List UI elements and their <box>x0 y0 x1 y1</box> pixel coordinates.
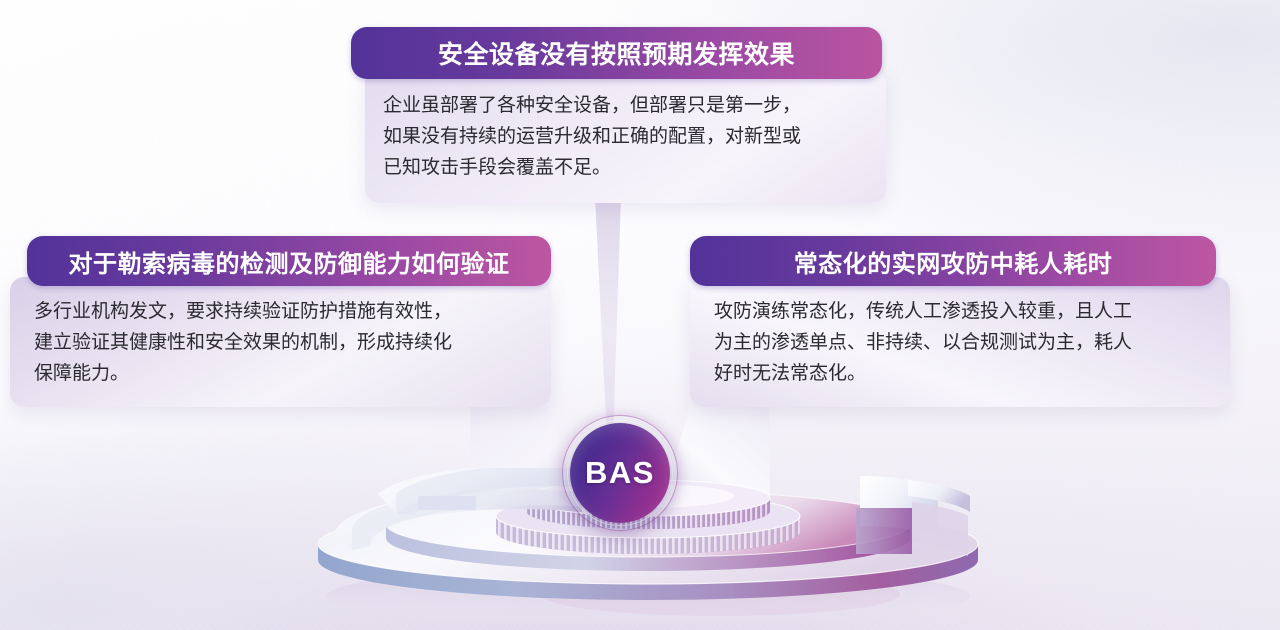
card-right: 常态化的实网攻防中耗人耗时 攻防演练常态化，传统人工渗透投入较重，且人工 为主的… <box>690 236 1230 407</box>
top-card-tail <box>591 196 631 446</box>
bas-label: BAS <box>585 455 655 491</box>
card-top-body-text: 企业虽部署了各种安全设备，但部署只是第一步， 如果没有持续的运营升级和正确的配置… <box>383 91 872 183</box>
card-right-body: 攻防演练常态化，传统人工渗透投入较重，且人工 为主的渗透单点、非持续、以合规测试… <box>690 277 1230 407</box>
card-left: 对于勒索病毒的检测及防御能力如何验证 多行业机构发文，要求持续验证防护措施有效性… <box>10 236 551 407</box>
bas-disc: BAS <box>570 423 670 523</box>
card-left-title: 对于勒索病毒的检测及防御能力如何验证 <box>69 244 510 279</box>
card-right-title: 常态化的实网攻防中耗人耗时 <box>794 244 1113 279</box>
card-top-header: 安全设备没有按照预期发挥效果 <box>351 27 882 79</box>
card-top-title: 安全设备没有按照预期发挥效果 <box>438 35 795 71</box>
card-left-body: 多行业机构发文，要求持续验证防护措施有效性， 建立验证其健康性和安全效果的机制，… <box>10 277 551 407</box>
infographic-stage: 安全设备没有按照预期发挥效果 企业虽部署了各种安全设备，但部署只是第一步， 如果… <box>0 0 1280 630</box>
card-right-header: 常态化的实网攻防中耗人耗时 <box>690 236 1216 286</box>
card-left-body-text: 多行业机构发文，要求持续验证防护措施有效性， 建立验证其健康性和安全效果的机制，… <box>34 297 531 389</box>
card-right-body-text: 攻防演练常态化，传统人工渗透投入较重，且人工 为主的渗透单点、非持续、以合规测试… <box>714 297 1208 389</box>
card-left-header: 对于勒索病毒的检测及防御能力如何验证 <box>27 236 551 286</box>
card-top: 安全设备没有按照预期发挥效果 企业虽部署了各种安全设备，但部署只是第一步， 如果… <box>351 27 882 203</box>
bas-circle-icon: BAS <box>562 415 678 531</box>
card-top-body: 企业虽部署了各种安全设备，但部署只是第一步， 如果没有持续的运营升级和正确的配置… <box>365 69 886 203</box>
